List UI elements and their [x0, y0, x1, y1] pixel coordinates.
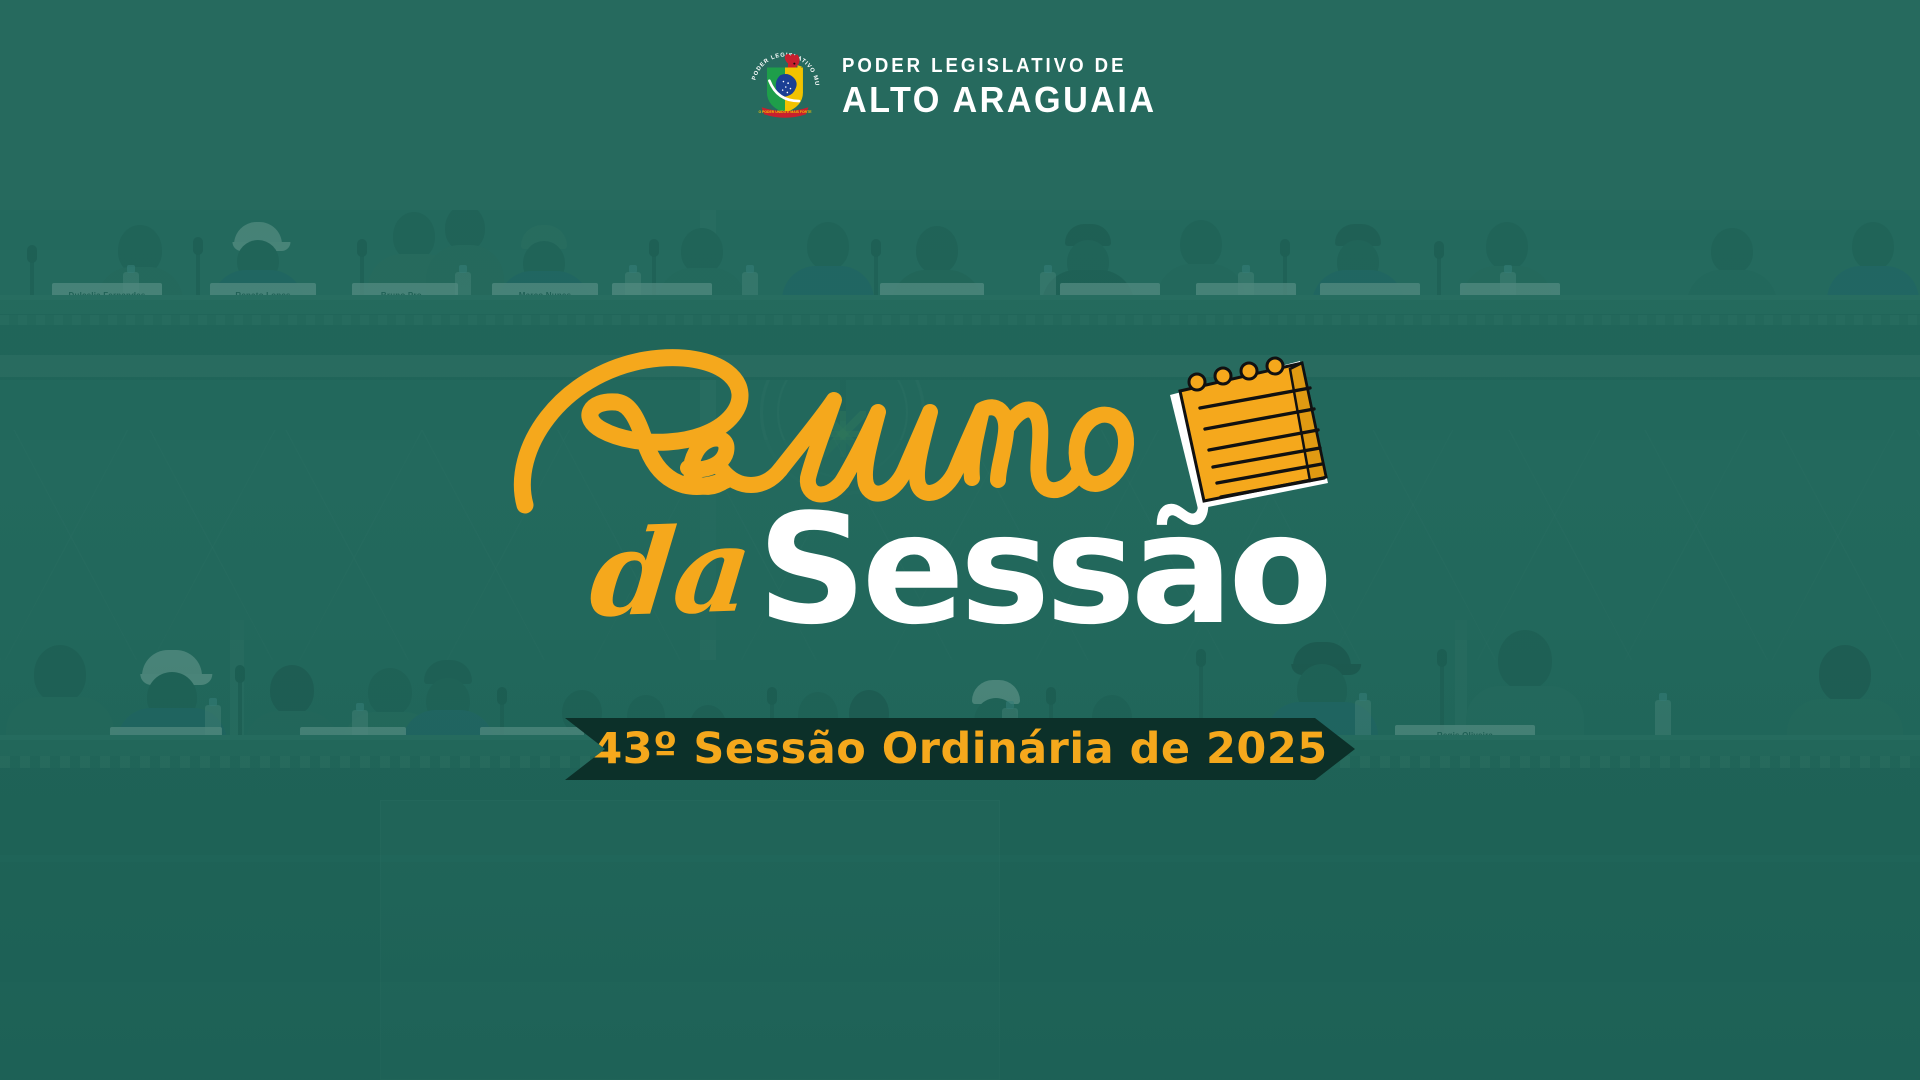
session-ribbon-banner: 43º Sessão Ordinária de 2025 [565, 718, 1355, 780]
session-ribbon-text: 43º Sessão Ordinária de 2025 [592, 724, 1327, 774]
institution-name: PODER LEGISLATIVO DE ALTO ARAGUAIA [842, 56, 1173, 118]
title-main-row: da Sessão [0, 505, 1920, 630]
institution-line-1: PODER LEGISLATIVO DE [842, 56, 1150, 76]
institutional-logo: PODER LEGISLATIVO MUNICIPAL [0, 48, 1920, 126]
notepad-icon [1150, 355, 1330, 510]
svg-text:O PODER UNIDO É MAIS FORTE: O PODER UNIDO É MAIS FORTE [759, 109, 813, 114]
coat-of-arms-emblem: PODER LEGISLATIVO MUNICIPAL [746, 48, 824, 126]
poster-canvas: Dulcelia Fernandes Renato Lopes Bruno Pr… [0, 0, 1920, 1080]
institution-line-2: ALTO ARAGUAIA [842, 82, 1157, 118]
title-connector-word: da [587, 523, 757, 623]
title-main-word: Sessão [757, 505, 1328, 636]
